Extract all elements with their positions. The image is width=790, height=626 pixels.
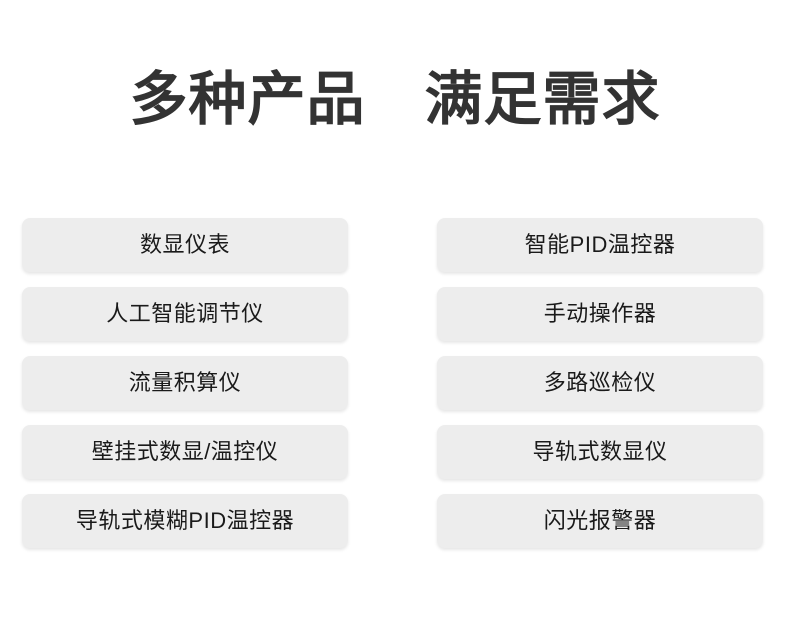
category-button-label: 壁挂式数显/温控仪 — [92, 439, 279, 465]
page-title-text: 多种产品 满足需求 — [129, 62, 660, 138]
category-button-label: 闪光报警器 — [544, 508, 657, 534]
page-title: 多种产品 满足需求 — [0, 62, 790, 138]
category-button-grid: 数显仪表 人工智能调节仪 流量积算仪 壁挂式数显/温控仪 导轨式模糊PID温控器… — [0, 218, 790, 550]
category-button-rengongzhinengtiaojieyi[interactable]: 人工智能调节仪 — [22, 287, 348, 341]
category-button-label: 人工智能调节仪 — [106, 301, 264, 327]
category-column-right: 智能PID温控器 手动操作器 多路巡检仪 导轨式数显仪 闪光报警器 — [437, 218, 763, 548]
category-button-label: 数显仪表 — [140, 232, 230, 258]
category-button-zhineng-pid-wenkongqi[interactable]: 智能PID温控器 — [437, 218, 763, 272]
category-button-shanguangbaojingqi[interactable]: 闪光报警器 — [437, 494, 763, 548]
product-category-page: 多种产品 满足需求 数显仪表 人工智能调节仪 流量积算仪 壁挂式数显/温控仪 导… — [0, 0, 790, 626]
category-button-daoguishi-mohu-pid-wenkongqi[interactable]: 导轨式模糊PID温控器 — [22, 494, 348, 548]
category-button-label: 流量积算仪 — [129, 370, 242, 396]
category-button-shoudongcaozuoqi[interactable]: 手动操作器 — [437, 287, 763, 341]
category-button-daoguishi-shuxianyi[interactable]: 导轨式数显仪 — [437, 425, 763, 479]
category-button-label: 多路巡检仪 — [544, 370, 657, 396]
category-button-label: 智能PID温控器 — [525, 232, 676, 258]
category-button-liuliangjisuanyi[interactable]: 流量积算仪 — [22, 356, 348, 410]
category-button-biguashi-shuxian-wenkongyi[interactable]: 壁挂式数显/温控仪 — [22, 425, 348, 479]
category-column-left: 数显仪表 人工智能调节仪 流量积算仪 壁挂式数显/温控仪 导轨式模糊PID温控器 — [22, 218, 348, 548]
category-button-shuxianyibiao[interactable]: 数显仪表 — [22, 218, 348, 272]
category-button-label: 导轨式模糊PID温控器 — [76, 508, 294, 534]
category-button-label: 导轨式数显仪 — [532, 439, 667, 465]
category-button-label: 手动操作器 — [544, 301, 657, 327]
category-button-duoluxunjianyi[interactable]: 多路巡检仪 — [437, 356, 763, 410]
